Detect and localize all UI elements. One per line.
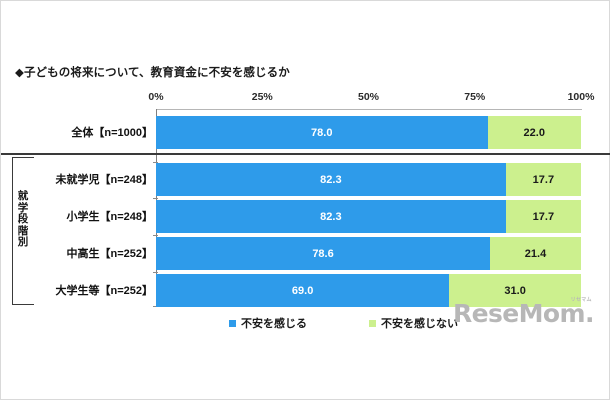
- bar-value-label: 17.7: [533, 211, 554, 223]
- category-axis-labels: 全体【n=1000】 未就学児【n=248】 小学生【n=248】 中高生【n=…: [25, 1, 153, 401]
- group-bracket-char: 就: [13, 191, 33, 203]
- legend-swatch-icon: [369, 320, 376, 327]
- bar-segment-anxious[interactable]: 69.0: [156, 274, 449, 307]
- group-bracket-char: 別: [13, 237, 33, 249]
- bar-value-label: 22.0: [524, 127, 545, 139]
- bar-value-label: 82.3: [320, 174, 341, 186]
- bar-value-label: 17.7: [533, 174, 554, 186]
- category-label-preschool: 未就学児【n=248】: [31, 171, 153, 187]
- x-axis-tick-75: 75%: [464, 91, 485, 103]
- bar-value-label: 31.0: [504, 285, 525, 297]
- bar-value-label: 21.4: [525, 248, 546, 260]
- x-axis-tick-labels: 0% 25% 50% 75% 100%: [156, 91, 581, 105]
- legend-swatch-icon: [229, 320, 236, 327]
- category-label-university: 大学生等【n=252】: [31, 282, 153, 298]
- legend-item-not-anxious[interactable]: 不安を感じない: [369, 315, 458, 331]
- category-label-elementary: 小学生【n=248】: [31, 208, 153, 224]
- bar-segment-not-anxious[interactable]: 22.0: [488, 116, 582, 149]
- bar-value-label: 78.6: [312, 248, 333, 260]
- legend-item-anxious[interactable]: 不安を感じる: [229, 315, 307, 331]
- bar-segment-not-anxious[interactable]: 17.7: [506, 163, 581, 196]
- table-row: 78.6 21.4: [156, 237, 581, 270]
- table-row: 82.3 17.7: [156, 163, 581, 196]
- bar-segment-not-anxious[interactable]: 17.7: [506, 200, 581, 233]
- bar-segment-anxious[interactable]: 78.0: [156, 116, 488, 149]
- bar-segment-anxious[interactable]: 78.6: [156, 237, 490, 270]
- bar-segment-anxious[interactable]: 82.3: [156, 163, 506, 196]
- group-bracket-label: 就 学 段 階 別: [13, 191, 33, 249]
- legend-label: 不安を感じない: [381, 315, 458, 331]
- bar-value-label: 69.0: [292, 285, 313, 297]
- bar-segment-anxious[interactable]: 82.3: [156, 200, 506, 233]
- legend-label: 不安を感じる: [241, 315, 307, 331]
- bar-segment-not-anxious[interactable]: 21.4: [490, 237, 581, 270]
- x-axis-tick-100: 100%: [568, 91, 595, 103]
- category-label-total: 全体【n=1000】: [31, 124, 153, 140]
- bar-value-label: 78.0: [311, 127, 332, 139]
- plot-area: 78.0 22.0 82.3 17.7 82.3 17.7: [156, 110, 581, 306]
- table-row: 69.0 31.0: [156, 274, 581, 307]
- table-row: 82.3 17.7: [156, 200, 581, 233]
- chart-legend: 不安を感じる 不安を感じない: [229, 315, 458, 331]
- chart-frame: ◆子どもの将来について、教育資金に不安を感じるか 0% 25% 50% 75% …: [0, 0, 610, 400]
- x-axis-tick-50: 50%: [358, 91, 379, 103]
- table-row: 78.0 22.0: [156, 116, 581, 149]
- bar-value-label: 82.3: [320, 211, 341, 223]
- group-bracket-char: 段: [13, 214, 33, 226]
- category-label-secondary: 中高生【n=252】: [31, 245, 153, 261]
- x-axis-tick-25: 25%: [252, 91, 273, 103]
- bar-segment-not-anxious[interactable]: 31.0: [449, 274, 581, 307]
